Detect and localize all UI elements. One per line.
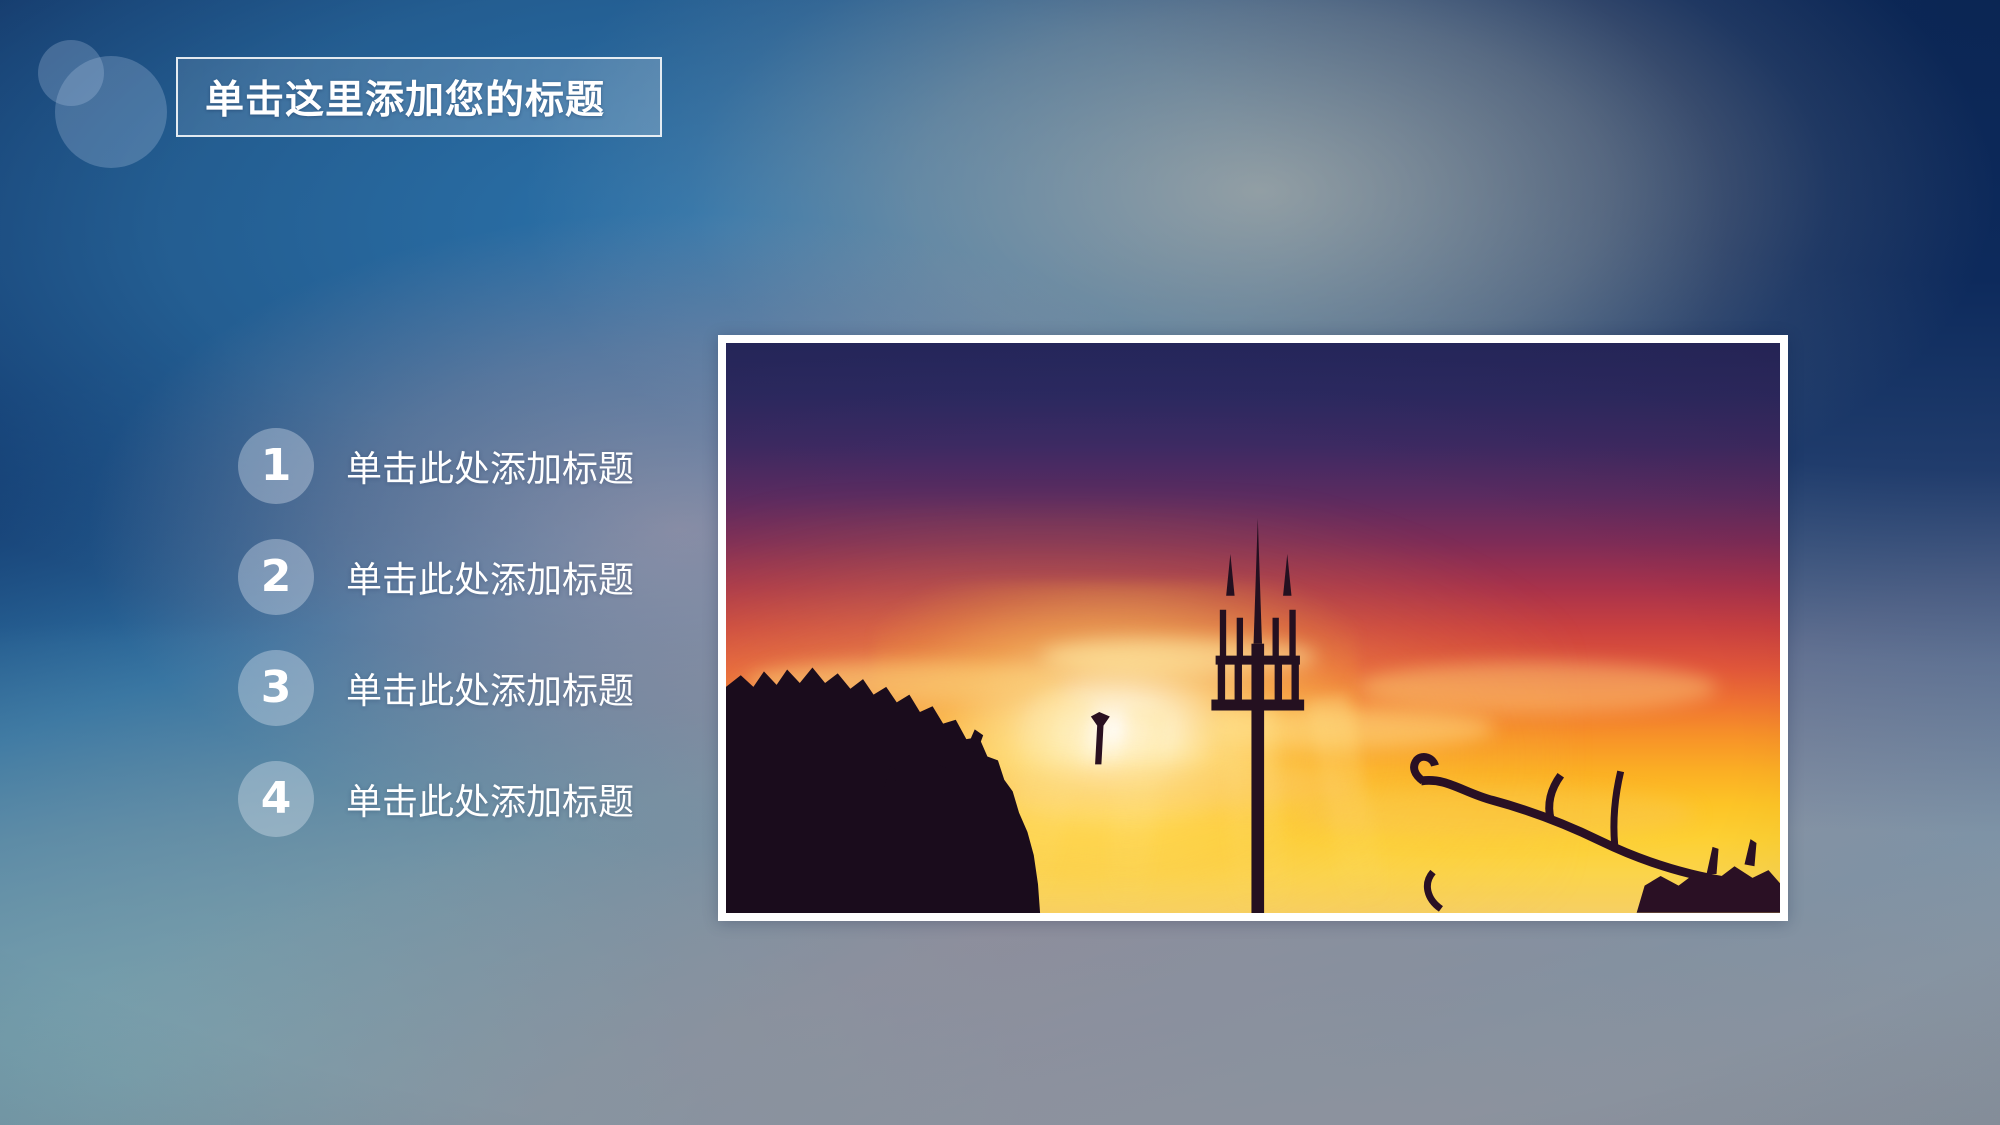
presentation-slide: 单击这里添加您的标题 1 单击此处添加标题 2 单击此处添加标题 3 单击此处添… xyxy=(0,0,2000,1125)
photo-frame[interactable] xyxy=(718,335,1788,921)
numbered-list: 1 单击此处添加标题 2 单击此处添加标题 3 单击此处添加标题 4 单击此处添… xyxy=(238,424,634,868)
list-item-label: 单击此处添加标题 xyxy=(346,662,634,714)
list-item-label: 单击此处添加标题 xyxy=(346,773,634,825)
number-badge-3: 3 xyxy=(238,650,314,726)
list-item[interactable]: 3 单击此处添加标题 xyxy=(238,646,634,730)
number-badge-2: 2 xyxy=(238,539,314,615)
list-item[interactable]: 2 单击此处添加标题 xyxy=(238,535,634,619)
list-item[interactable]: 4 单击此处添加标题 xyxy=(238,757,634,841)
decorative-circle-large xyxy=(55,56,167,168)
list-item-label: 单击此处添加标题 xyxy=(346,440,634,492)
list-item-label: 单击此处添加标题 xyxy=(346,551,634,603)
title-box[interactable]: 单击这里添加您的标题 xyxy=(176,57,662,137)
list-item[interactable]: 1 单击此处添加标题 xyxy=(238,424,634,508)
sunset-photo xyxy=(726,343,1780,913)
photo-vignette xyxy=(726,343,1780,913)
number-badge-4: 4 xyxy=(238,761,314,837)
page-title: 单击这里添加您的标题 xyxy=(205,69,605,125)
number-badge-1: 1 xyxy=(238,428,314,504)
